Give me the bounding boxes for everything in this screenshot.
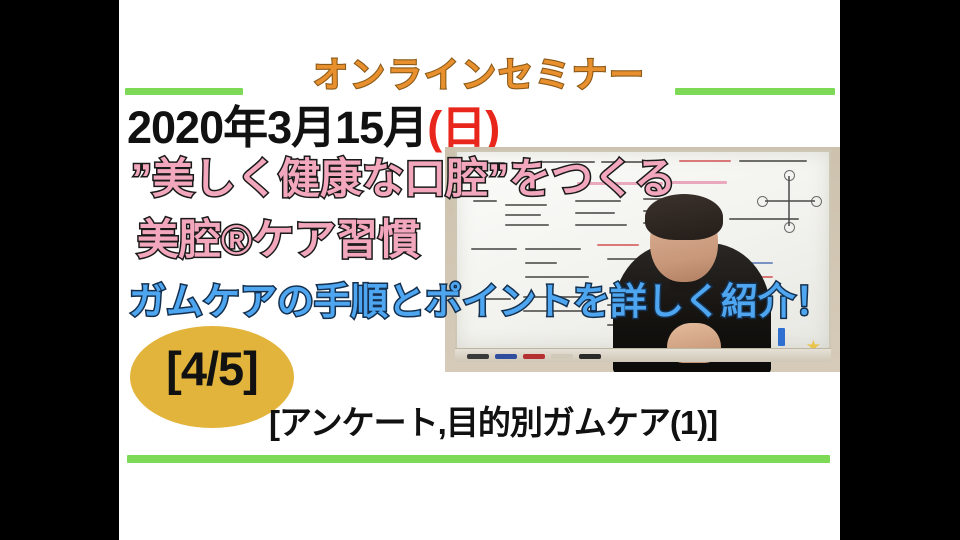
headline-line-1: ”美しく健康な口腔”をつくる [131, 157, 676, 201]
marker-dark [579, 354, 601, 359]
marker-blue [495, 354, 517, 359]
headline-line-2: 美腔®ケア習慣 [137, 218, 420, 262]
blue-exclamation-icon [778, 328, 785, 346]
green-rule-bottom [127, 455, 830, 463]
tooth-chart-diagram [757, 170, 827, 232]
screenshot-stage: オンラインセミナー 2020年3月15月(日) [0, 0, 960, 540]
date-main: 2020年3月15月 [127, 102, 427, 153]
date-day-of-week: (日) [427, 102, 499, 153]
seminar-title: オンラインセミナー [119, 58, 840, 93]
seminar-date: 2020年3月15月(日) [127, 104, 499, 151]
headline-line-3: ガムケアの手順とポイントを詳しく紹介！ [129, 283, 832, 322]
marker-black [467, 354, 489, 359]
part-badge-label: [4/5] [130, 345, 294, 392]
marker-red [523, 354, 545, 359]
marker-white [551, 354, 573, 359]
slide-card: オンラインセミナー 2020年3月15月(日) [119, 0, 840, 540]
topic-subtitle: [アンケート,目的別ガムケア(1)] [269, 406, 717, 441]
